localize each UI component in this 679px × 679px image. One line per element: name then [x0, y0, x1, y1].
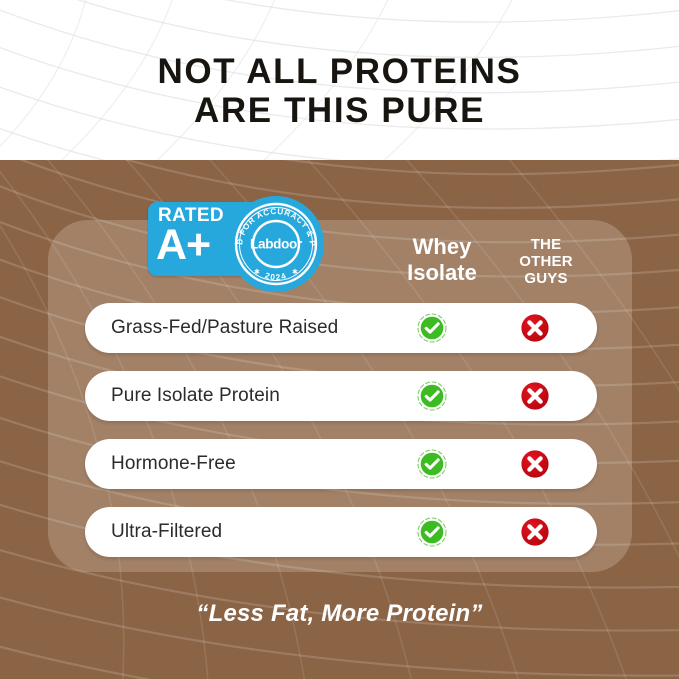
- table-row: Hormone-Free: [85, 439, 597, 489]
- page-title: NOT ALL PROTEINS ARE THIS PURE: [0, 52, 679, 130]
- cell-other-guys: [521, 382, 549, 410]
- cell-other-guys: [521, 518, 549, 546]
- cross-circle-icon: [521, 450, 549, 478]
- cross-circle-icon: [521, 314, 549, 342]
- headline-band: NOT ALL PROTEINS ARE THIS PURE: [0, 0, 679, 160]
- table-row: Pure Isolate Protein: [85, 371, 597, 421]
- check-circle-icon: [417, 449, 447, 479]
- column-header-whey-line-1: Whey: [392, 234, 492, 260]
- labdoor-rating-badge: RATED A+ TESTED FOR ACCURACY & PURITY 20…: [148, 196, 324, 288]
- headline-line-1: NOT ALL PROTEINS: [0, 52, 679, 91]
- column-header-other-line-1: THE: [500, 236, 592, 253]
- seal-brand-label: Labdoor: [250, 237, 303, 252]
- column-header-other-guys: THE OTHER GUYS: [500, 236, 592, 287]
- cell-other-guys: [521, 314, 549, 342]
- row-feature-label: Hormone-Free: [111, 439, 236, 489]
- cell-whey-isolate: [417, 381, 447, 411]
- headline-line-2: ARE THIS PURE: [0, 91, 679, 130]
- labdoor-seal-icon: TESTED FOR ACCURACY & PURITY 2024 ✱ ✱ La…: [228, 196, 324, 292]
- cross-circle-icon: [521, 382, 549, 410]
- seal-star-right-icon: ✱: [292, 268, 298, 276]
- check-circle-icon: [417, 517, 447, 547]
- column-header-other-line-2: OTHER: [500, 253, 592, 270]
- row-feature-label: Pure Isolate Protein: [111, 371, 280, 421]
- table-row: Grass-Fed/Pasture Raised: [85, 303, 597, 353]
- comparison-table: Grass-Fed/Pasture Raised: [85, 303, 597, 557]
- cell-whey-isolate: [417, 449, 447, 479]
- cell-whey-isolate: [417, 517, 447, 547]
- table-row: Ultra-Filtered: [85, 507, 597, 557]
- cell-other-guys: [521, 450, 549, 478]
- footer-tagline: “Less Fat, More Protein”: [0, 600, 679, 628]
- check-circle-icon: [417, 381, 447, 411]
- column-header-other-line-3: GUYS: [500, 270, 592, 287]
- promo-comparison-graphic: NOT ALL PROTEINS ARE THIS PURE RATED A+ …: [0, 0, 679, 679]
- column-header-whey-isolate: Whey Isolate: [392, 234, 492, 286]
- cross-circle-icon: [521, 518, 549, 546]
- column-header-whey-line-2: Isolate: [392, 260, 492, 286]
- row-feature-label: Grass-Fed/Pasture Raised: [111, 303, 338, 353]
- seal-star-left-icon: ✱: [254, 268, 260, 276]
- cell-whey-isolate: [417, 313, 447, 343]
- check-circle-icon: [417, 313, 447, 343]
- row-feature-label: Ultra-Filtered: [111, 507, 222, 557]
